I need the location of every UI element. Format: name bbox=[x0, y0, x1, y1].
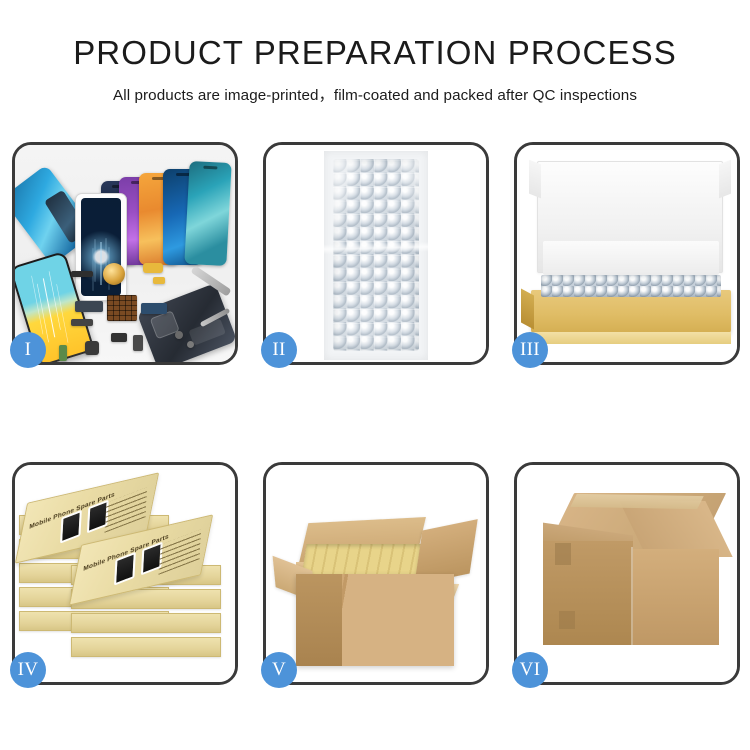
chip-array-part bbox=[107, 295, 137, 321]
step-card-i: I bbox=[12, 142, 238, 365]
tempered-glass-panel bbox=[75, 193, 127, 301]
step-badge-iii: III bbox=[512, 332, 548, 368]
step-card-iv: Mobile Phone Spare Parts Mobile Phone Sp… bbox=[12, 462, 238, 685]
component-part bbox=[71, 319, 93, 326]
step-ii-image bbox=[266, 145, 486, 362]
component-part bbox=[153, 277, 165, 284]
step-v-image bbox=[266, 465, 486, 682]
stacked-box bbox=[71, 613, 221, 633]
component-part bbox=[143, 263, 163, 273]
bubble-wrap-texture bbox=[333, 159, 419, 351]
phone-display-1 bbox=[184, 161, 231, 266]
component-part bbox=[141, 303, 167, 314]
header: PRODUCT PREPARATION PROCESS All products… bbox=[0, 0, 750, 105]
notch-icon bbox=[176, 173, 190, 176]
process-steps-grid: I II III bbox=[12, 142, 740, 685]
packing-tape-strip bbox=[570, 494, 703, 509]
step-badge-ii: II bbox=[261, 332, 297, 368]
screw-part bbox=[187, 341, 194, 348]
component-part bbox=[75, 301, 103, 312]
step-badge-iv: IV bbox=[10, 652, 46, 688]
step-iii-image bbox=[517, 145, 737, 362]
component-part bbox=[85, 341, 99, 355]
kraft-box-tray bbox=[531, 290, 731, 334]
sealed-carton bbox=[537, 493, 719, 653]
step-iv-image: Mobile Phone Spare Parts Mobile Phone Sp… bbox=[15, 465, 235, 682]
stacked-boxes: Mobile Phone Spare Parts Mobile Phone Sp… bbox=[19, 479, 231, 675]
page-title: PRODUCT PREPARATION PROCESS bbox=[0, 34, 750, 72]
bubble-wrapped-product bbox=[324, 151, 428, 360]
carton-side-right bbox=[633, 549, 719, 645]
stacked-box bbox=[71, 637, 221, 657]
component-part bbox=[111, 333, 127, 342]
tape-tab-lower bbox=[559, 611, 575, 629]
notch-icon bbox=[203, 166, 217, 170]
carton-body-open bbox=[296, 574, 454, 666]
phone-back-housing bbox=[137, 283, 235, 362]
step-badge-i: I bbox=[10, 332, 46, 368]
step-badge-v: V bbox=[261, 652, 297, 688]
step-i-image bbox=[15, 145, 235, 362]
step-card-v: V bbox=[263, 462, 489, 685]
tape-tab-upper bbox=[555, 543, 571, 565]
step-card-vi: VI bbox=[514, 462, 740, 685]
bubble-wrap-inside-box bbox=[541, 275, 721, 297]
carton-edge-highlight bbox=[631, 547, 633, 645]
speaker-coil-part bbox=[103, 263, 125, 285]
step-card-ii: II bbox=[263, 142, 489, 365]
page-subtitle: All products are image-printed，film-coat… bbox=[0, 83, 750, 105]
step-vi-image bbox=[517, 465, 737, 682]
box-front-edge bbox=[531, 332, 731, 344]
component-part bbox=[133, 335, 143, 351]
component-part bbox=[71, 271, 93, 277]
screw-part bbox=[175, 331, 183, 339]
component-part bbox=[59, 345, 67, 361]
step-card-iii: III bbox=[514, 142, 740, 365]
foam-sheet bbox=[543, 241, 719, 275]
step-badge-vi: VI bbox=[512, 652, 548, 688]
